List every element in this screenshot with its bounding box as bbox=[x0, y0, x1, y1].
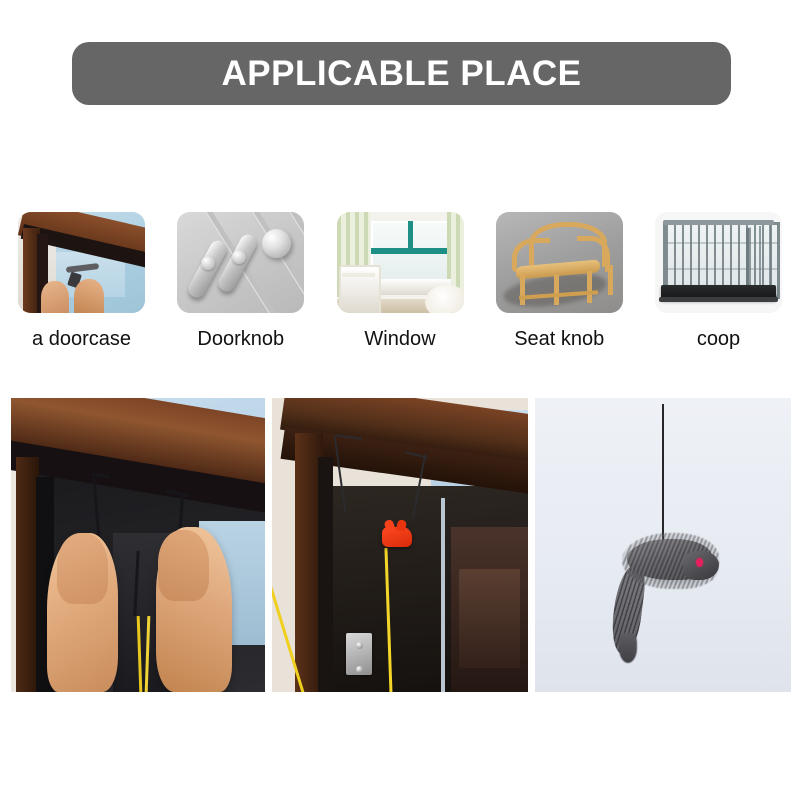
hanging-string-icon bbox=[662, 404, 664, 545]
place-item-coop: coop bbox=[655, 212, 782, 349]
place-item-window: Window bbox=[337, 212, 464, 349]
place-caption-window: Window bbox=[364, 329, 435, 349]
doorcase-thumbnail bbox=[18, 212, 145, 313]
mouse-toy-photo bbox=[535, 398, 791, 692]
seat-knob-thumbnail bbox=[496, 212, 623, 313]
place-caption-seat-knob: Seat knob bbox=[514, 329, 604, 349]
doorknob-thumbnail bbox=[177, 212, 304, 313]
applicable-place-list: a doorcase Doorknob bbox=[18, 212, 782, 349]
place-caption-doorknob: Doorknob bbox=[197, 329, 284, 349]
usage-photo-gallery bbox=[11, 398, 791, 692]
place-caption-doorcase: a doorcase bbox=[32, 329, 131, 349]
install-hanger-photo bbox=[11, 398, 265, 692]
window-thumbnail bbox=[337, 212, 464, 313]
place-item-doorknob: Doorknob bbox=[177, 212, 304, 349]
mounted-hanger-photo bbox=[272, 398, 528, 692]
place-item-seat-knob: Seat knob bbox=[496, 212, 623, 349]
coop-thumbnail bbox=[655, 212, 782, 313]
header-banner: APPLICABLE PLACE bbox=[72, 42, 731, 105]
page-title: APPLICABLE PLACE bbox=[222, 56, 582, 91]
place-caption-coop: coop bbox=[697, 329, 740, 349]
place-item-doorcase: a doorcase bbox=[18, 212, 145, 349]
